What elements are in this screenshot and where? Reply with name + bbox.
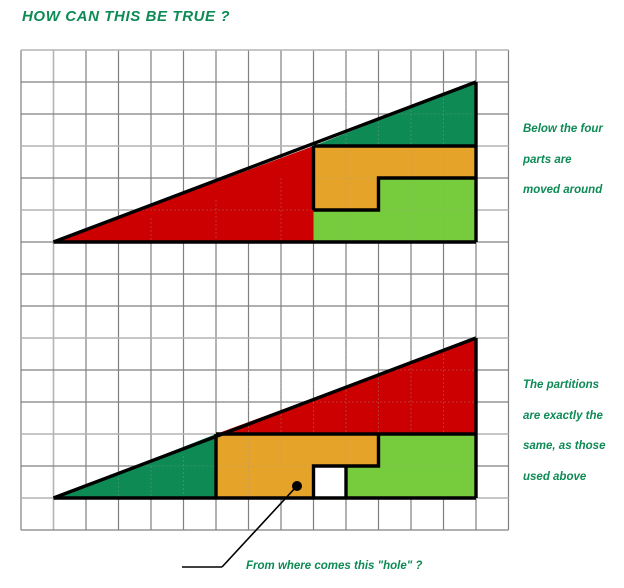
missing-unit-square-hole <box>314 466 347 498</box>
lower-annotation-line-1: The partitions <box>523 380 605 392</box>
lower-annotation-line-4: used above <box>523 472 605 484</box>
lower-figure <box>54 338 477 567</box>
upper-annotation: Below the four parts are moved around <box>523 124 603 216</box>
upper-figure <box>54 82 477 242</box>
upper-annotation-line-2: parts are <box>523 155 603 167</box>
lower-annotation-line-2: are exactly the <box>523 411 605 423</box>
hole-caption: From where comes this "hole" ? <box>246 560 422 572</box>
lower-annotation-line-3: same, as those <box>523 441 605 453</box>
upper-annotation-line-3: moved around <box>523 185 603 197</box>
upper-annotation-line-1: Below the four <box>523 124 603 136</box>
lower-annotation: The partitions are exactly the same, as … <box>523 380 605 502</box>
hole-marker-dot <box>292 481 302 491</box>
